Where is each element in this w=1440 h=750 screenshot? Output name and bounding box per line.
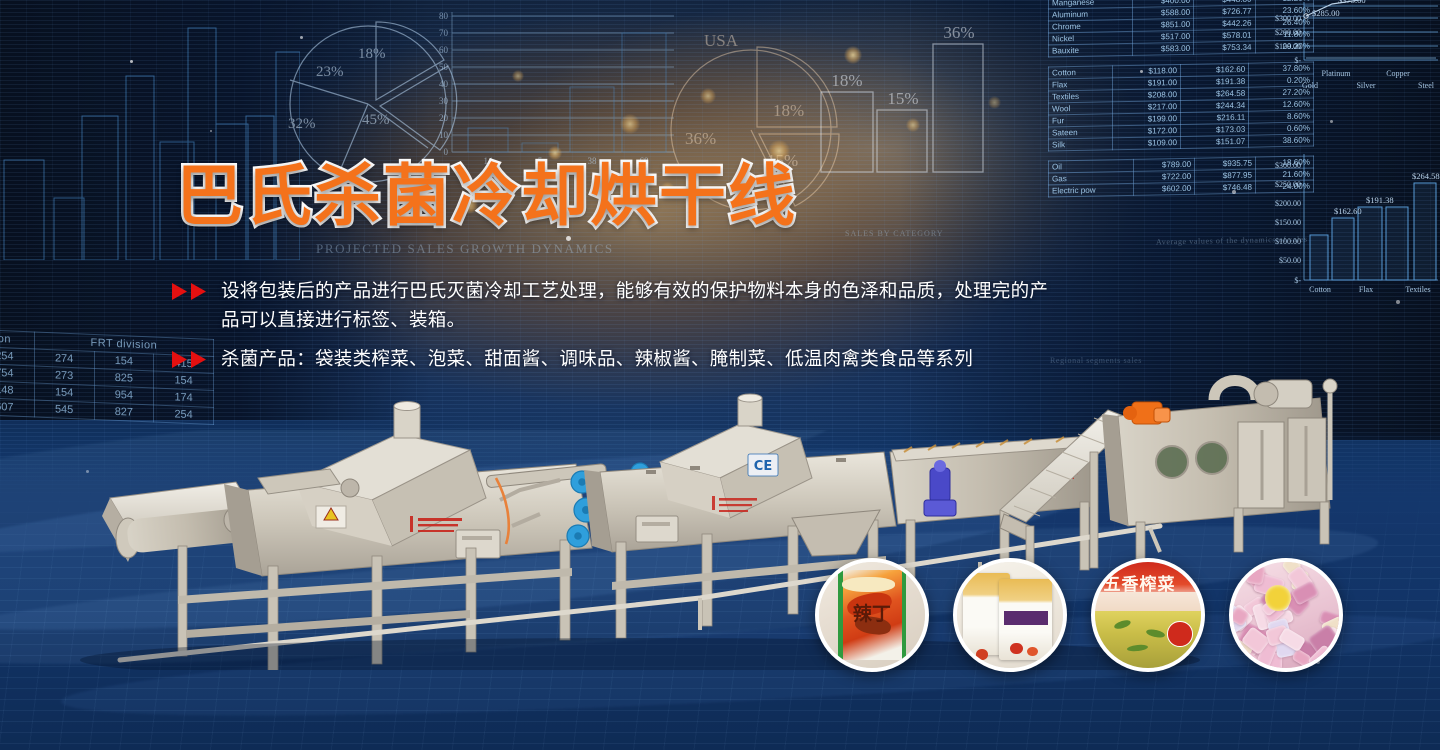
svg-text:CE: CE [754,459,772,474]
table-textiles: Cotton$118.00$162.6037.80% Flax$191.00$1… [1048,61,1314,151]
table-energy: Oil$789.00$935.7518.60% Gas$722.00$877.9… [1048,155,1314,197]
candy-highlight [1265,585,1291,611]
candy-piece [1245,564,1265,586]
banner-stage: 18% 23% 32% 45% 01020 304050 607080 145 [0,0,1440,750]
product-label-3: 五香榨菜 [1103,570,1175,595]
bullet-text: 设将包装后的产品进行巴氏灭菌冷却工艺处理，能够有效的保护物料本身的色泽和品质，处… [221,278,1061,335]
double-arrow-icon [172,351,208,368]
product-thumb-laotan-suancai[interactable] [953,558,1067,672]
ce-mark-icon: CE [748,454,778,476]
bullet-item: 杀菌产品：袋装类榨菜、泡菜、甜面酱、调味品、辣椒酱、腌制菜、低温肉禽类食品等系列 [172,346,1272,375]
page-title: 巴氏杀菌冷却烘干线 [176,163,797,230]
candy-piece [1231,655,1255,672]
product-label-1: 辣丁 [853,599,891,626]
product-thumbnails: 辣丁 五香榨菜 [815,558,1343,672]
product-thumb-five-spice-zhacai[interactable]: 五香榨菜 [1091,558,1205,672]
bullet-item: 设将包装后的产品进行巴氏灭菌冷却工艺处理，能够有效的保护物料本身的色泽和品质，处… [172,278,1272,335]
bullet-list: 设将包装后的产品进行巴氏灭菌冷却工艺处理，能够有效的保护物料本身的色泽和品质，处… [172,278,1272,386]
bullet-text: 杀菌产品：袋装类榨菜、泡菜、甜面酱、调味品、辣椒酱、腌制菜、低温肉禽类食品等系列 [221,346,973,375]
product-thumb-spicy-pickled-pouch[interactable]: 辣丁 [815,558,929,672]
product-thumb-pink-jelly-candies[interactable] [1229,558,1343,672]
double-arrow-icon [172,283,208,300]
background-data-table: Manganese$400.00$448.8012.20% Aluminum$5… [1048,0,1314,207]
table-metals: Manganese$400.00$448.8012.20% Aluminum$5… [1048,0,1314,58]
